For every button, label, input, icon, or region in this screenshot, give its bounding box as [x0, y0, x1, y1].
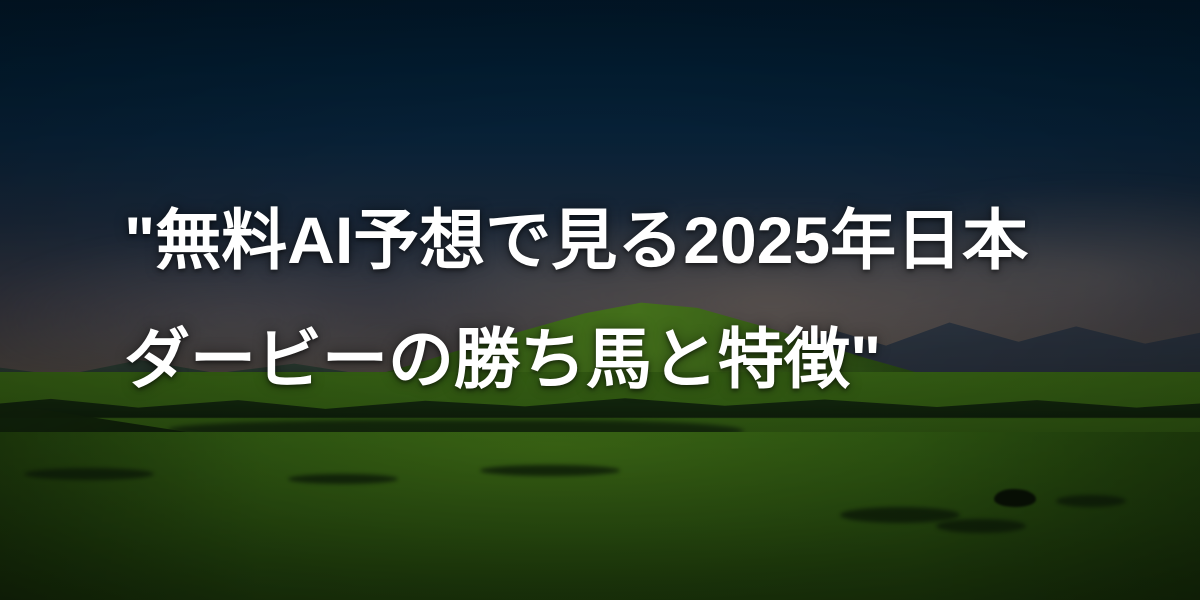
title-layer: "無料AI予想で見る2025年日本ダービーの勝ち馬と特徴": [0, 0, 1200, 600]
page-title: "無料AI予想で見る2025年日本ダービーの勝ち馬と特徴": [124, 181, 1076, 419]
ogp-title-card: "無料AI予想で見る2025年日本ダービーの勝ち馬と特徴": [0, 0, 1200, 600]
